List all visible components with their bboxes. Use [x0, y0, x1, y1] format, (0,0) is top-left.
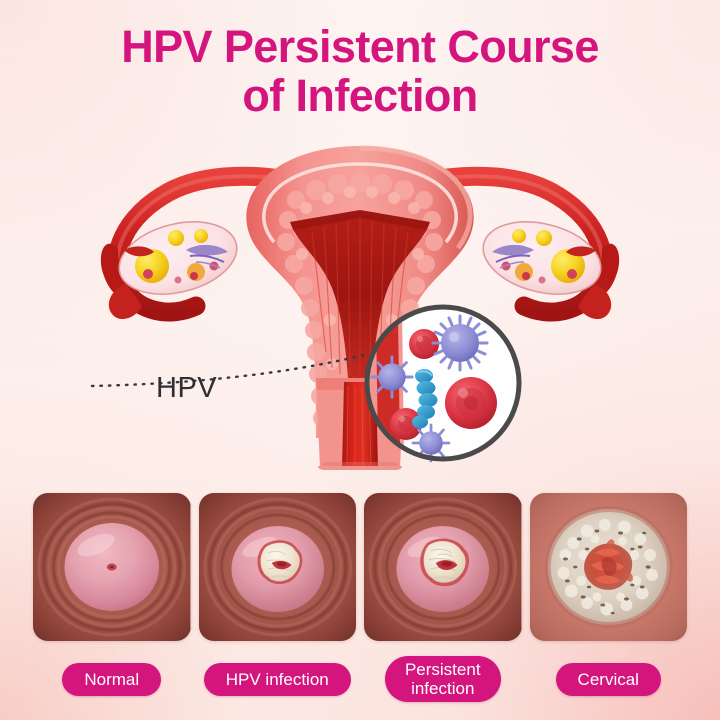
stage-label-hpv-infection[interactable]: HPV infection: [204, 663, 351, 696]
stage-label-persistent-infection[interactable]: Persistent infection: [385, 656, 501, 702]
pill-slot-normal: Normal: [33, 656, 191, 702]
stage-label-row: Normal HPV infection Persistent infectio…: [33, 656, 687, 702]
vagina: [318, 462, 402, 470]
title-line-2: of Infection: [0, 71, 720, 120]
magnifier-circle: [367, 307, 519, 461]
stage-label-normal[interactable]: Normal: [62, 663, 161, 696]
pill-slot-hpv-infection: HPV infection: [199, 656, 357, 702]
cervix-hpv-infection-photo[interactable]: [199, 493, 357, 641]
stage-label-cervical[interactable]: Cervical: [556, 663, 661, 696]
hpv-callout-label: HPV: [156, 372, 217, 405]
red-blood-cell: [445, 377, 497, 429]
title-line-1: HPV Persistent Course: [0, 22, 720, 71]
uterus-anatomy-illustration: [0, 138, 720, 488]
pill-slot-persistent-infection: Persistent infection: [364, 656, 522, 702]
page-title: HPV Persistent Course of Infection: [0, 22, 720, 120]
cervix-persistent-infection-photo[interactable]: [364, 493, 522, 641]
hpv-virus-particle: [372, 357, 412, 397]
cervix-cancer-photo[interactable]: [530, 493, 688, 641]
infographic-root: HPV Persistent Course of Infection: [0, 0, 720, 720]
pill-slot-cervical: Cervical: [530, 656, 688, 702]
hpv-virus-particle: [433, 316, 487, 370]
cervix-normal-photo[interactable]: [33, 493, 191, 641]
cervix-stage-panels: [33, 493, 687, 641]
